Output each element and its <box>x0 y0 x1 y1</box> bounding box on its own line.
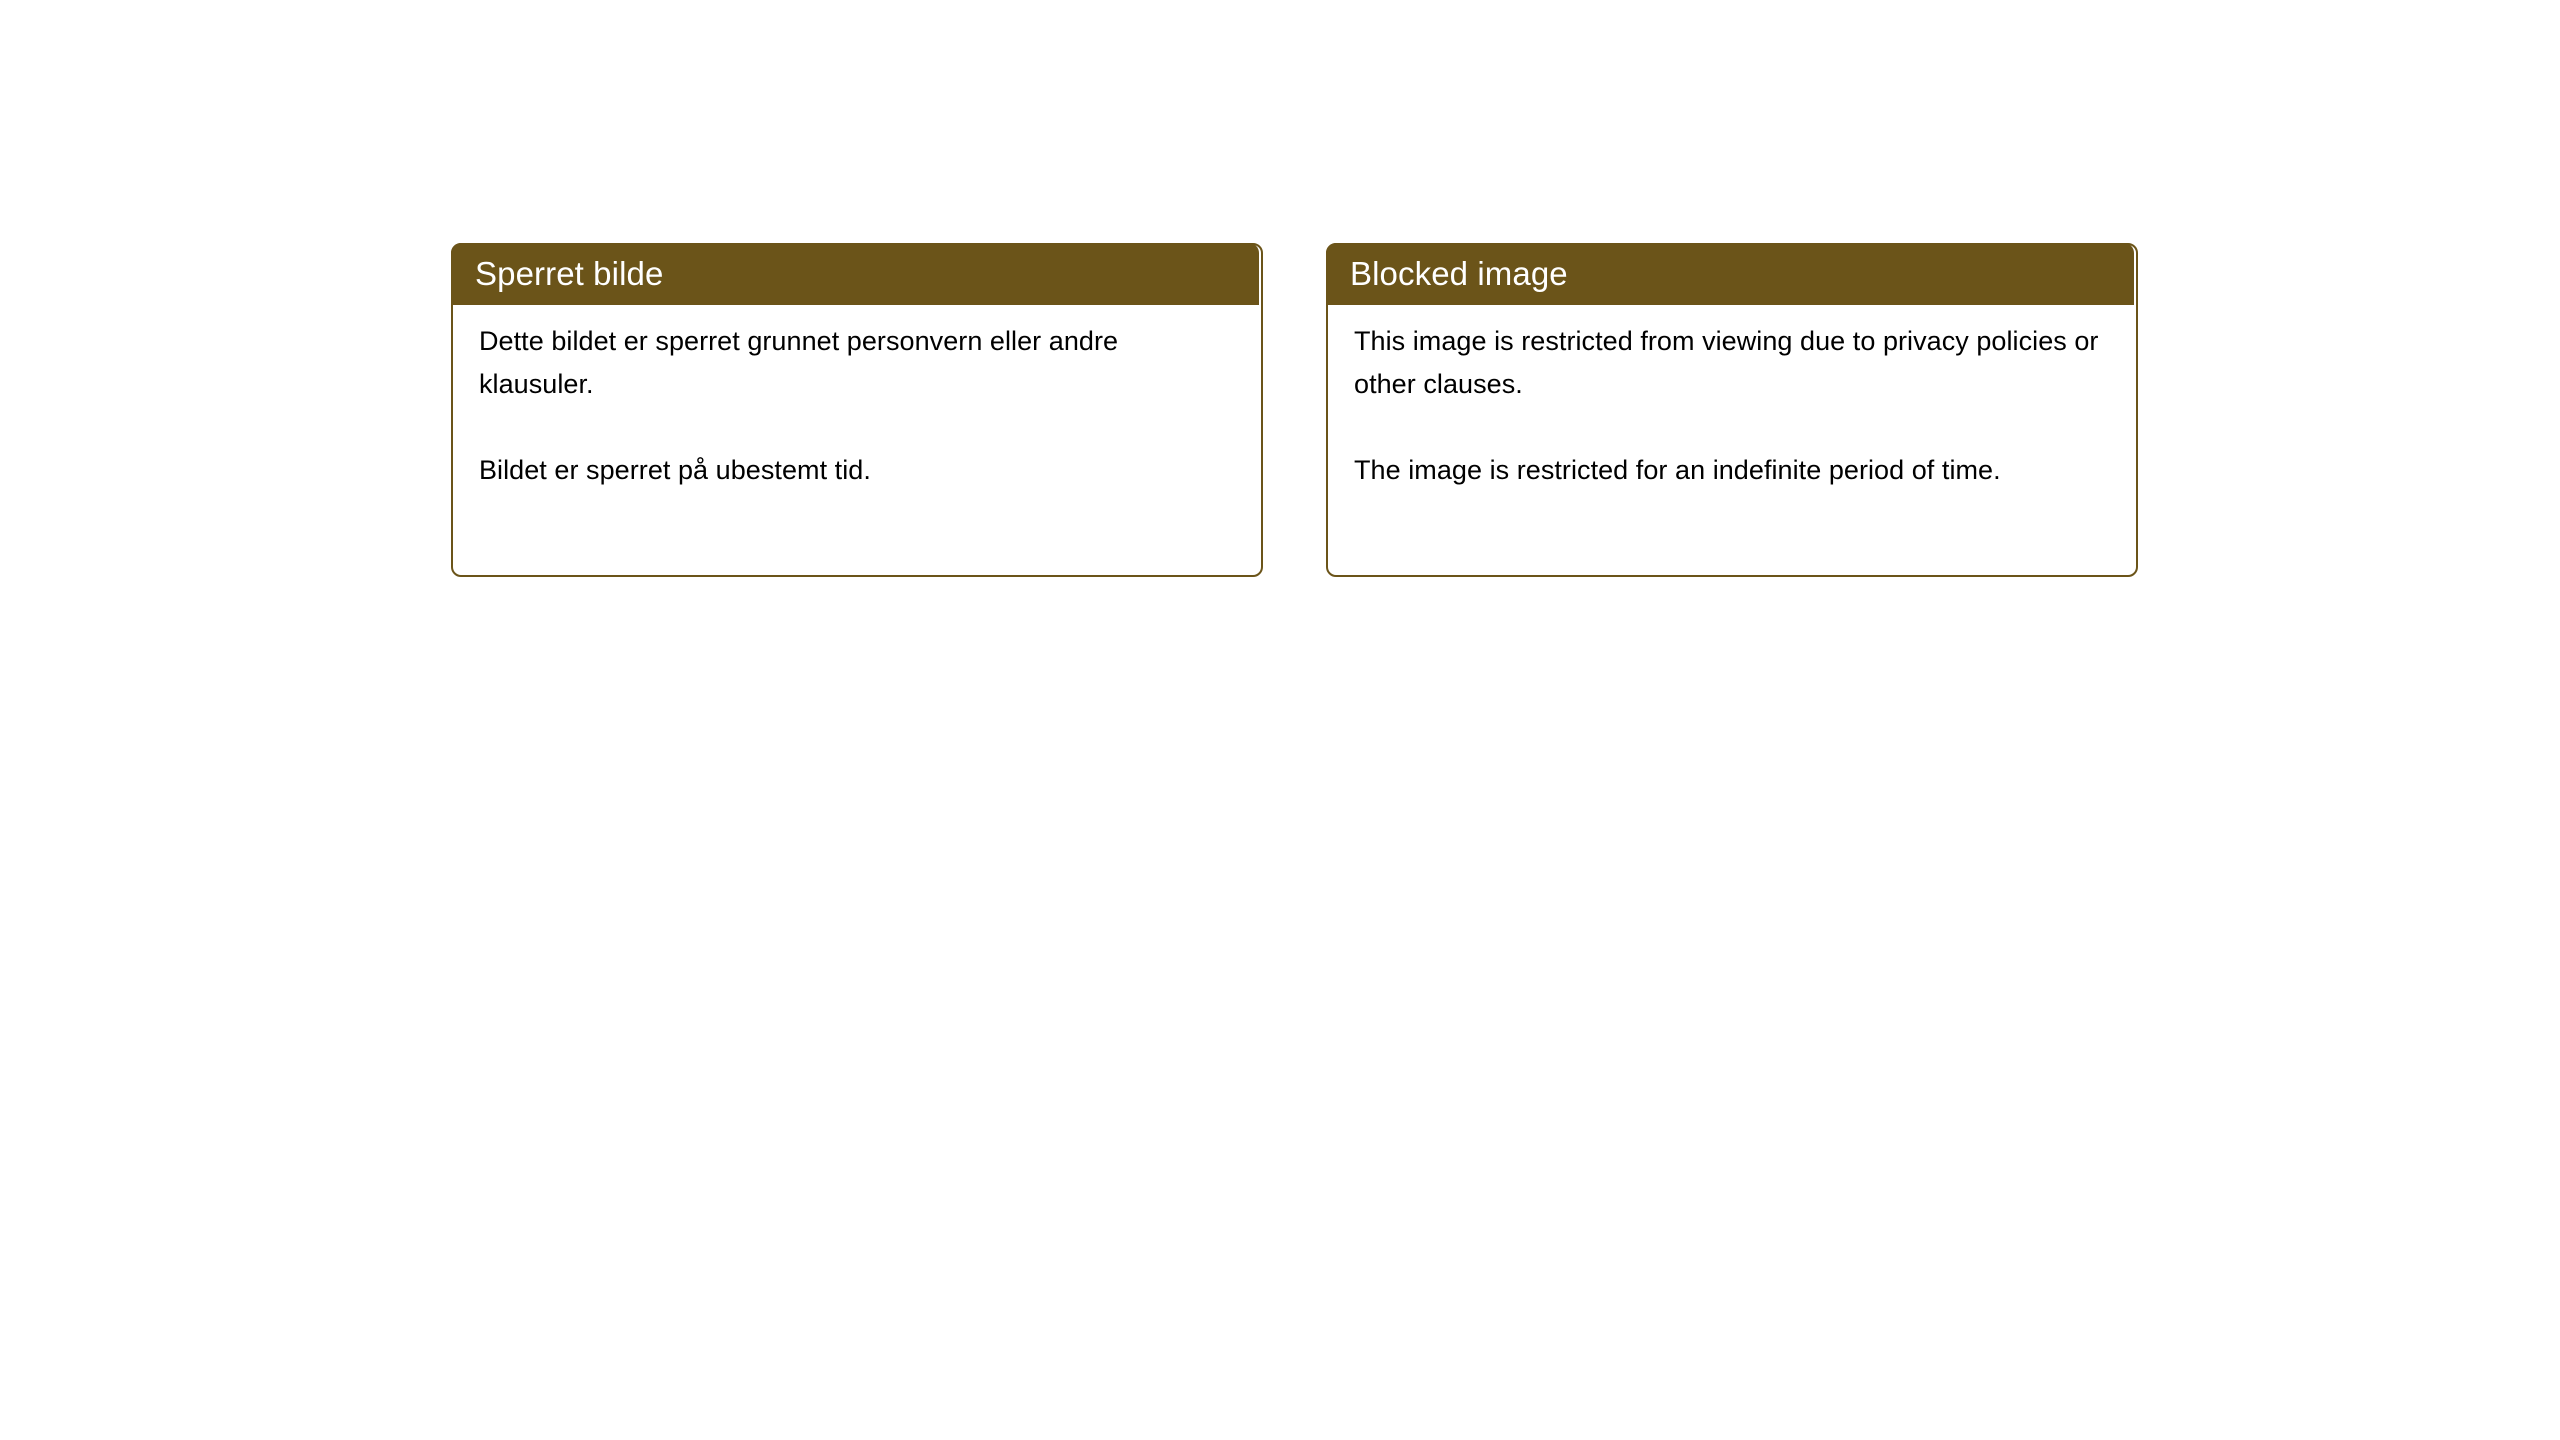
card-header-english: Blocked image <box>1326 243 2134 305</box>
card-body-english: This image is restricted from viewing du… <box>1328 305 2136 575</box>
card-paragraph-duration-norwegian: Bildet er sperret på ubestemt tid. <box>479 449 1235 492</box>
card-header-norwegian: Sperret bilde <box>451 243 1259 305</box>
card-paragraph-duration-english: The image is restricted for an indefinit… <box>1354 449 2110 492</box>
card-title-english: Blocked image <box>1350 255 1568 293</box>
card-paragraph-reason-norwegian: Dette bildet er sperret grunnet personve… <box>479 320 1235 406</box>
card-paragraph-reason-english: This image is restricted from viewing du… <box>1354 320 2110 406</box>
blocked-image-notice-stage: Sperret bilde Dette bildet er sperret gr… <box>0 0 2560 1440</box>
card-title-norwegian: Sperret bilde <box>475 255 663 293</box>
blocked-image-card-english: Blocked image This image is restricted f… <box>1326 243 2138 577</box>
blocked-image-card-norwegian: Sperret bilde Dette bildet er sperret gr… <box>451 243 1263 577</box>
card-body-norwegian: Dette bildet er sperret grunnet personve… <box>453 305 1261 575</box>
